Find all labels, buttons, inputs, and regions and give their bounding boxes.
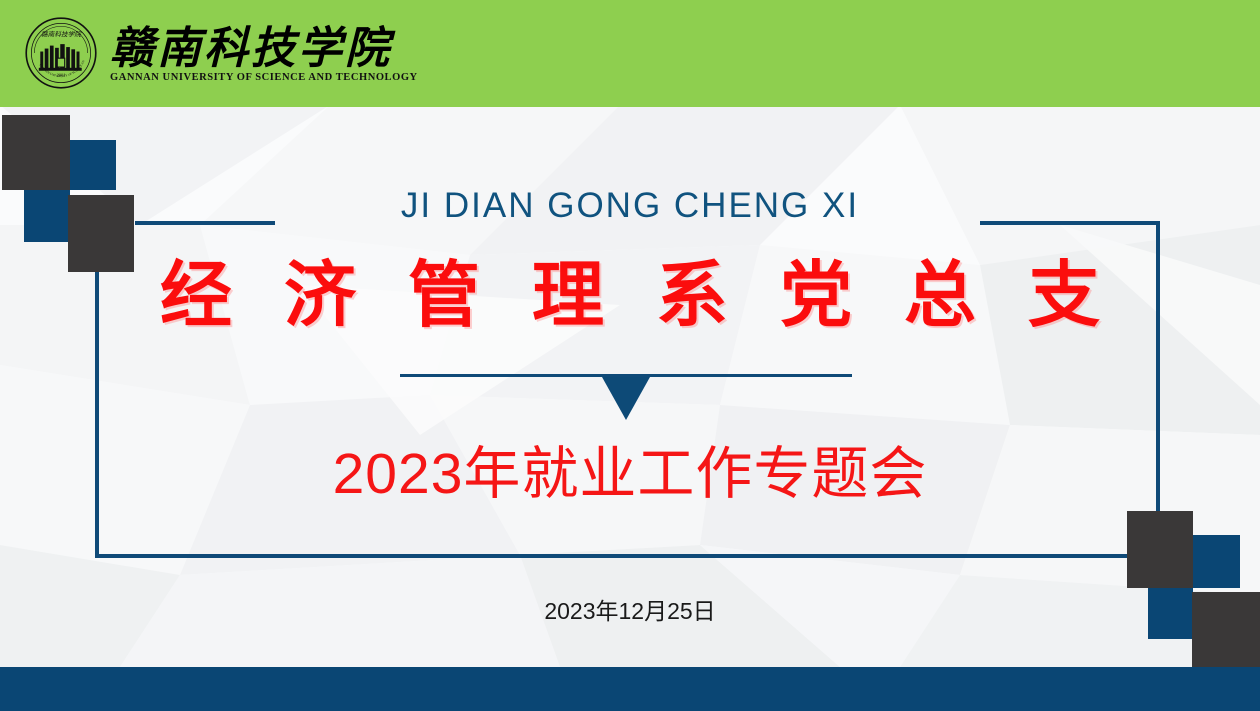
deco-square-blue-bottom-right-1: [1193, 535, 1240, 588]
header-band: 赣南科技学院 2001 GANNAN UNIVERSITY OF SCIENCE…: [0, 0, 1260, 107]
university-name-en: GANNAN UNIVERSITY OF SCIENCE AND TECHNOL…: [110, 72, 418, 83]
page-subtitle: 2023年就业工作专题会: [0, 428, 1260, 510]
presentation-date: 2023年12月25日: [0, 592, 1260, 626]
frame-line-bottom: [95, 554, 1128, 558]
presentation-slide: 赣南科技学院 2001 GANNAN UNIVERSITY OF SCIENCE…: [0, 0, 1260, 711]
logo-text-block: 赣南科技学院 GANNAN UNIVERSITY OF SCIENCE AND …: [110, 23, 418, 84]
deco-square-blue-bottom-right-2: [1148, 588, 1193, 639]
pinyin-subtitle: JI DIAN GONG CHENG XI: [0, 186, 1260, 226]
university-seal-icon: 赣南科技学院 2001 GANNAN UNIVERSITY OF SCIENCE…: [24, 16, 98, 90]
deco-square-dark-bottom-right-2: [1192, 592, 1260, 667]
title-divider-triangle-icon: [602, 377, 650, 420]
deco-square-blue-top-left-1: [70, 140, 116, 190]
svg-text:赣南科技学院: 赣南科技学院: [41, 31, 82, 39]
deco-square-dark-top-left-1: [2, 115, 70, 190]
footer-bar: [0, 667, 1260, 711]
deco-square-dark-top-left-2: [68, 195, 134, 272]
deco-square-blue-top-left-2: [24, 190, 70, 242]
university-name-cn: 赣南科技学院: [110, 27, 418, 72]
deco-square-dark-bottom-right-1: [1127, 511, 1193, 588]
page-title: 经 济 管 理 系 党 总 支: [0, 258, 1260, 336]
university-logo: 赣南科技学院 2001 GANNAN UNIVERSITY OF SCIENCE…: [24, 12, 418, 94]
